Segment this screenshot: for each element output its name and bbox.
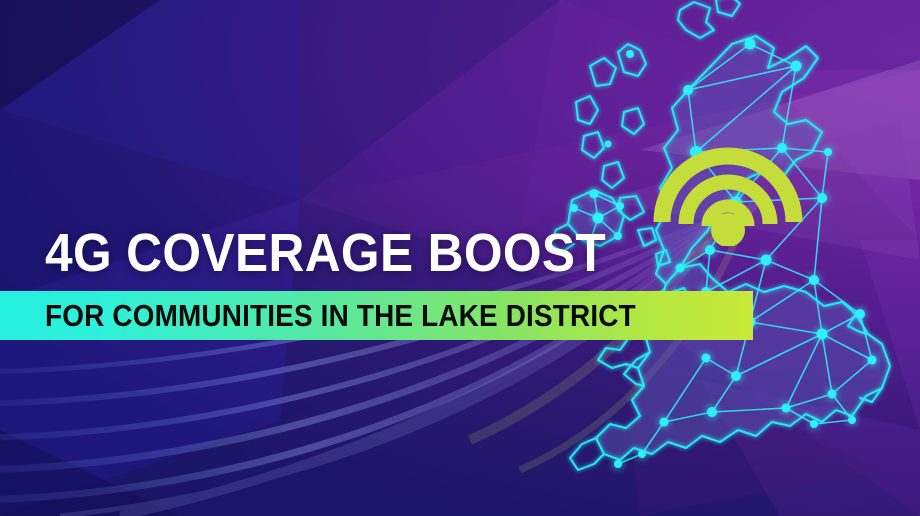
banner-graphic: 4G COVERAGE BOOST FOR COMMUNITIES IN THE… <box>0 0 920 516</box>
wifi-signal-icon <box>648 138 808 246</box>
uk-map-network <box>560 0 920 516</box>
page-title: 4G COVERAGE BOOST <box>45 224 606 282</box>
page-subtitle: FOR COMMUNITIES IN THE LAKE DISTRICT <box>45 297 636 335</box>
